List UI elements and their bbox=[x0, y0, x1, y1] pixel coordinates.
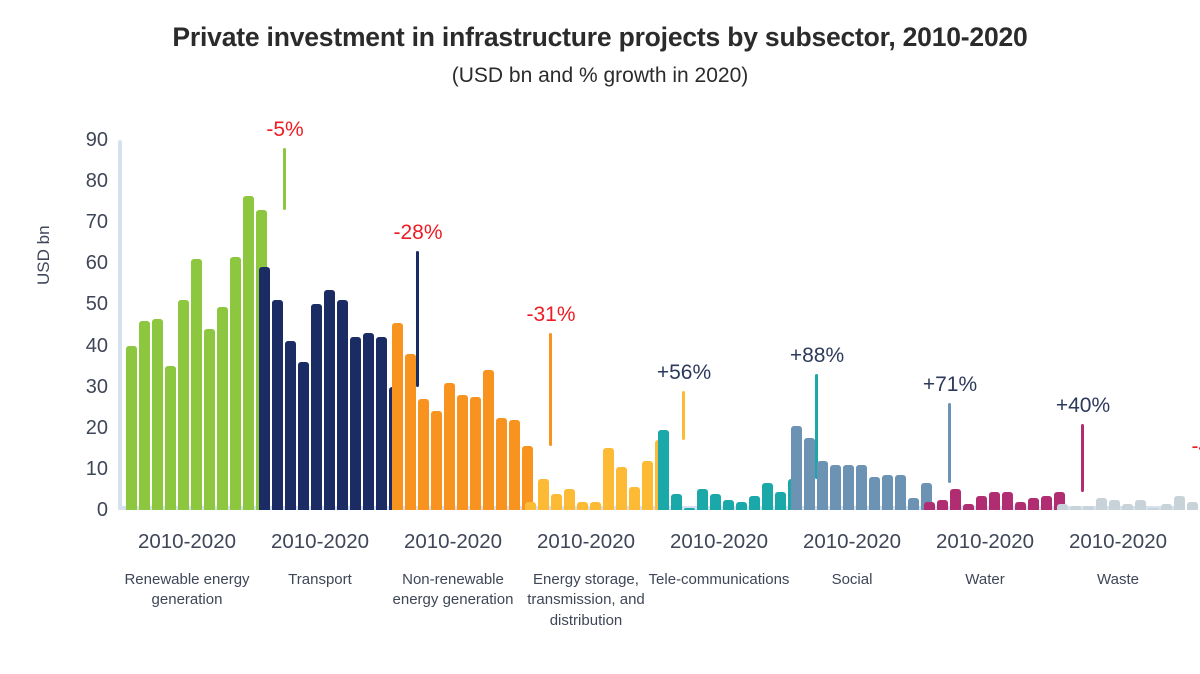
bar[interactable] bbox=[178, 300, 189, 510]
bar[interactable] bbox=[483, 370, 494, 510]
growth-percent-label: -47% bbox=[1191, 435, 1200, 459]
bar[interactable] bbox=[856, 465, 867, 510]
y-axis-tick: 10 bbox=[68, 459, 108, 479]
bar[interactable] bbox=[1122, 504, 1133, 510]
x-axis-period: 2010-2020 bbox=[116, 530, 258, 554]
x-axis-period: 2010-2020 bbox=[781, 530, 923, 554]
bar[interactable] bbox=[950, 489, 961, 510]
bar[interactable] bbox=[590, 502, 601, 510]
bar[interactable] bbox=[775, 492, 786, 511]
x-axis-group-label: 2010-2020Non-renewable energy generation bbox=[382, 530, 524, 611]
bar[interactable] bbox=[509, 420, 520, 510]
bar[interactable] bbox=[1109, 500, 1120, 510]
x-axis-group-label: 2010-2020Renewable energy generation bbox=[116, 530, 258, 611]
bar[interactable] bbox=[259, 267, 270, 510]
bar[interactable] bbox=[337, 300, 348, 510]
bar[interactable] bbox=[165, 366, 176, 510]
bar[interactable] bbox=[564, 489, 575, 510]
x-axis-group-label: 2010-2020Transport bbox=[249, 530, 391, 590]
bar-group-bars bbox=[791, 140, 932, 510]
x-axis-subsector-name: Renewable energy generation bbox=[116, 570, 258, 611]
bar-group-bars bbox=[658, 140, 799, 510]
bar[interactable] bbox=[457, 395, 468, 510]
bar[interactable] bbox=[204, 329, 215, 510]
x-axis-period: 2010-2020 bbox=[382, 530, 524, 554]
bar[interactable] bbox=[684, 508, 695, 510]
bar[interactable] bbox=[217, 307, 228, 511]
bar[interactable] bbox=[642, 461, 653, 510]
bar[interactable] bbox=[1083, 506, 1094, 510]
bar-group-bars bbox=[525, 140, 666, 510]
x-axis-group-label: 2010-2020Water bbox=[914, 530, 1056, 590]
bar[interactable] bbox=[937, 500, 948, 510]
y-axis-tick: 90 bbox=[68, 130, 108, 150]
bar[interactable] bbox=[882, 475, 893, 510]
bar[interactable] bbox=[444, 383, 455, 510]
x-axis-group-labels: 2010-2020Renewable energy generation2010… bbox=[118, 530, 1180, 670]
bar[interactable] bbox=[762, 483, 773, 510]
bar[interactable] bbox=[989, 492, 1000, 511]
bar-groups: -5%-28%-31%+56%+88%+71%+40%-47% bbox=[118, 140, 1180, 510]
bar[interactable] bbox=[1148, 508, 1159, 510]
bar-group: +88% bbox=[658, 140, 786, 510]
y-axis-tick: 40 bbox=[68, 336, 108, 356]
bar[interactable] bbox=[869, 477, 880, 510]
y-axis-tick: 20 bbox=[68, 418, 108, 438]
bar-group-bars bbox=[1057, 140, 1198, 510]
bar[interactable] bbox=[350, 337, 361, 510]
bar[interactable] bbox=[1002, 492, 1013, 511]
bar[interactable] bbox=[736, 502, 747, 510]
bar[interactable] bbox=[1041, 496, 1052, 510]
plot-area: -5%-28%-31%+56%+88%+71%+40%-47% bbox=[118, 140, 1180, 510]
bar[interactable] bbox=[376, 337, 387, 510]
bar-group: -47% bbox=[1057, 140, 1185, 510]
x-axis-group-label: 2010-2020Tele-communications bbox=[648, 530, 790, 590]
bar[interactable] bbox=[152, 319, 163, 510]
y-axis-tick: 60 bbox=[68, 253, 108, 273]
bar[interactable] bbox=[1015, 502, 1026, 510]
x-axis-subsector-name: Energy storage, transmission, and distri… bbox=[515, 570, 657, 631]
bar[interactable] bbox=[1096, 498, 1107, 510]
bar[interactable] bbox=[710, 494, 721, 510]
bar[interactable] bbox=[298, 362, 309, 510]
bar[interactable] bbox=[1057, 504, 1068, 510]
bar[interactable] bbox=[405, 354, 416, 510]
y-axis-tick: 80 bbox=[68, 171, 108, 191]
x-axis-subsector-name: Water bbox=[914, 570, 1056, 590]
bar[interactable] bbox=[272, 300, 283, 510]
bar-group-bars bbox=[259, 140, 400, 510]
bar-group: +40% bbox=[924, 140, 1052, 510]
bar[interactable] bbox=[230, 257, 241, 510]
bar[interactable] bbox=[139, 321, 150, 510]
bar[interactable] bbox=[616, 467, 627, 510]
y-axis-tick: 0 bbox=[68, 500, 108, 520]
y-axis-title: USD bn bbox=[34, 225, 54, 285]
bar[interactable] bbox=[1187, 502, 1198, 510]
x-axis-period: 2010-2020 bbox=[648, 530, 790, 554]
page-title: Private investment in infrastructure pro… bbox=[0, 22, 1200, 53]
bar[interactable] bbox=[243, 196, 254, 511]
bar[interactable] bbox=[1174, 496, 1185, 510]
bar-group: -5% bbox=[126, 140, 254, 510]
x-axis-group-label: 2010-2020Waste bbox=[1047, 530, 1189, 590]
bar[interactable] bbox=[791, 426, 802, 510]
x-axis-period: 2010-2020 bbox=[1047, 530, 1189, 554]
bar[interactable] bbox=[392, 323, 403, 510]
x-axis-subsector-name: Waste bbox=[1047, 570, 1189, 590]
bar-group: -31% bbox=[392, 140, 520, 510]
bar[interactable] bbox=[749, 496, 760, 510]
bar[interactable] bbox=[191, 259, 202, 510]
bar[interactable] bbox=[963, 504, 974, 510]
bar[interactable] bbox=[817, 461, 828, 510]
bar[interactable] bbox=[895, 475, 906, 510]
bar[interactable] bbox=[924, 502, 935, 510]
bar-group: +71% bbox=[791, 140, 919, 510]
x-axis-subsector-name: Transport bbox=[249, 570, 391, 590]
bar[interactable] bbox=[470, 397, 481, 510]
bar[interactable] bbox=[496, 418, 507, 511]
bar[interactable] bbox=[525, 502, 536, 510]
bar-group-bars bbox=[126, 140, 267, 510]
bar[interactable] bbox=[551, 494, 562, 510]
x-axis-subsector-name: Tele-communications bbox=[648, 570, 790, 590]
bar-group-bars bbox=[392, 140, 533, 510]
growth-percent-label: -5% bbox=[266, 118, 303, 142]
bar[interactable] bbox=[1135, 500, 1146, 510]
bar[interactable] bbox=[603, 448, 614, 510]
bar-group-bars bbox=[924, 140, 1065, 510]
bar[interactable] bbox=[577, 502, 588, 510]
x-axis-subsector-name: Non-renewable energy generation bbox=[382, 570, 524, 611]
x-axis-group-label: 2010-2020Social bbox=[781, 530, 923, 590]
bar[interactable] bbox=[363, 333, 374, 510]
bar[interactable] bbox=[431, 411, 442, 510]
bar-group: +56% bbox=[525, 140, 653, 510]
bar[interactable] bbox=[830, 465, 841, 510]
x-axis-group-label: 2010-2020Energy storage, transmission, a… bbox=[515, 530, 657, 631]
y-axis-tick: 70 bbox=[68, 212, 108, 232]
bar[interactable] bbox=[1070, 506, 1081, 510]
bar[interactable] bbox=[126, 346, 137, 510]
bar[interactable] bbox=[285, 341, 296, 510]
x-axis-period: 2010-2020 bbox=[914, 530, 1056, 554]
bar[interactable] bbox=[324, 290, 335, 510]
bar[interactable] bbox=[697, 489, 708, 510]
y-axis-tick: 30 bbox=[68, 377, 108, 397]
x-axis-period: 2010-2020 bbox=[249, 530, 391, 554]
x-axis-subsector-name: Social bbox=[781, 570, 923, 590]
bar[interactable] bbox=[658, 430, 669, 510]
bar[interactable] bbox=[908, 498, 919, 510]
bar[interactable] bbox=[976, 496, 987, 510]
bar-group: -28% bbox=[259, 140, 387, 510]
bar[interactable] bbox=[1161, 504, 1172, 510]
bar[interactable] bbox=[311, 304, 322, 510]
bar[interactable] bbox=[629, 487, 640, 510]
bar[interactable] bbox=[418, 399, 429, 510]
chart-subtitle: (USD bn and % growth in 2020) bbox=[0, 64, 1200, 88]
bar[interactable] bbox=[723, 500, 734, 510]
x-axis-period: 2010-2020 bbox=[515, 530, 657, 554]
bar[interactable] bbox=[843, 465, 854, 510]
bar[interactable] bbox=[804, 438, 815, 510]
bar[interactable] bbox=[1028, 498, 1039, 510]
bar[interactable] bbox=[538, 479, 549, 510]
y-axis-tick-labels: 9080706050403020100 bbox=[60, 140, 108, 510]
y-axis-tick: 50 bbox=[68, 294, 108, 314]
bar[interactable] bbox=[671, 494, 682, 510]
